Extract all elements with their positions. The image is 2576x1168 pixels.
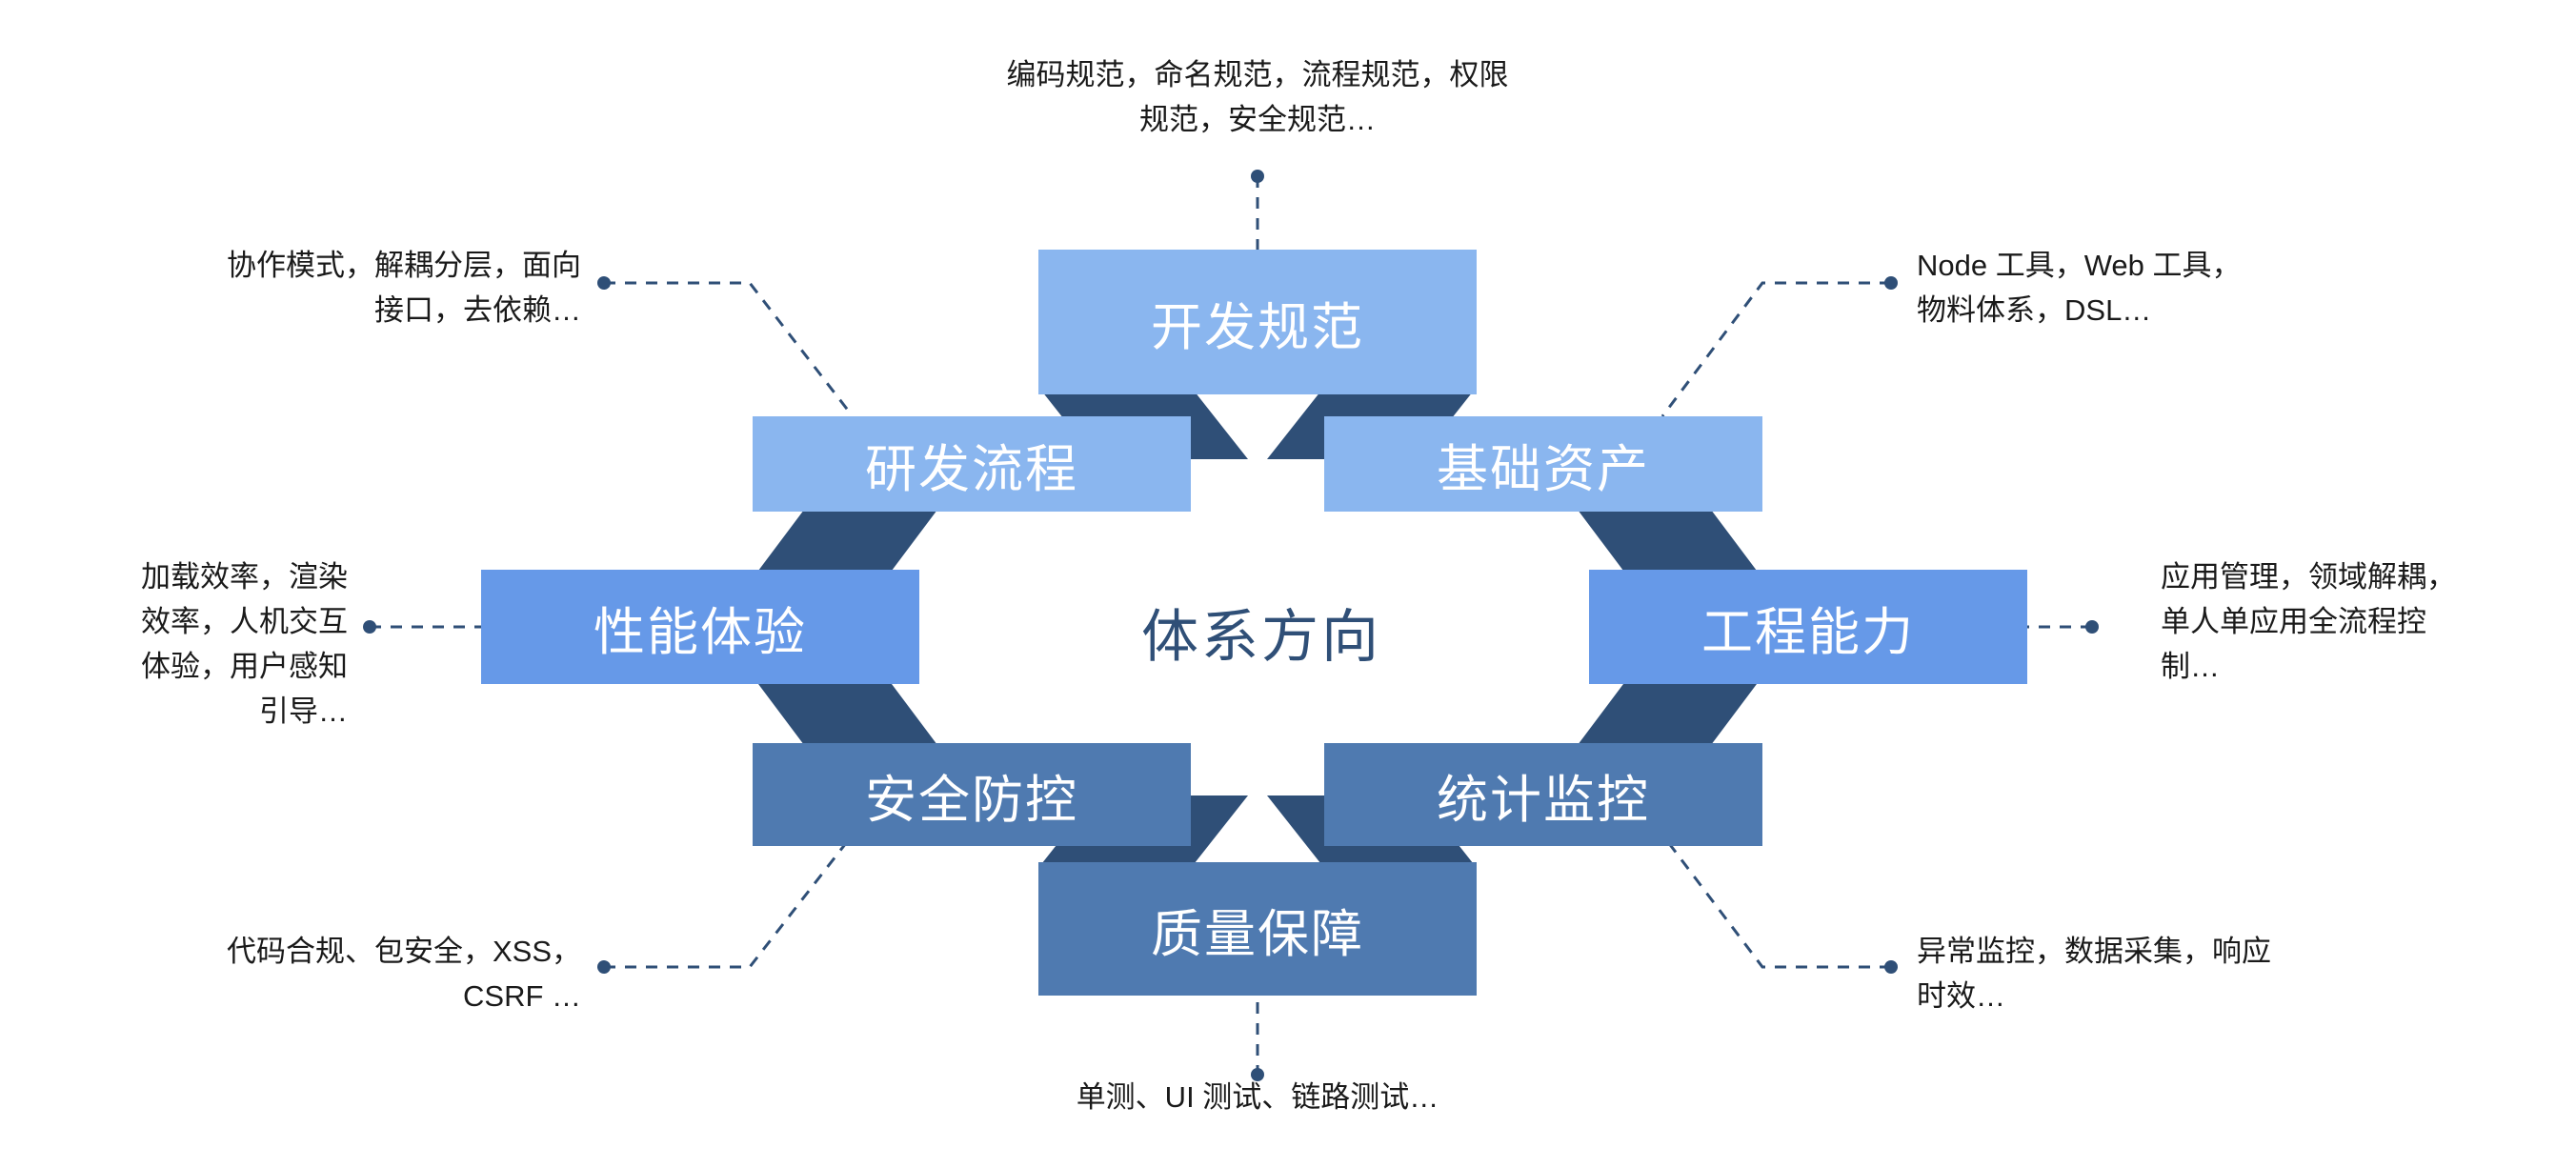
annotation-security: 代码合规、包安全，XSS， CSRF … xyxy=(76,929,581,1018)
block-base-assets[interactable]: 基础资产 xyxy=(1324,416,1762,512)
annotation-base-assets: Node 工具，Web 工具， 物料体系，DSL… xyxy=(1917,243,2450,332)
annotation-quality: 单测、UI 测试、链路测试… xyxy=(972,1075,1543,1119)
block-label: 研发流程 xyxy=(865,427,1078,502)
block-label: 性能体验 xyxy=(594,590,807,665)
block-label: 质量保障 xyxy=(1151,892,1364,967)
connector-quality xyxy=(1251,1002,1264,1081)
center-title: 体系方向 xyxy=(1141,591,1381,674)
annotation-performance: 加载效率，渲染 效率，人机交互 体验，用户感知 引导… xyxy=(38,554,348,734)
connector-monitoring xyxy=(1662,835,1898,974)
connector-engineering xyxy=(2020,620,2099,634)
fold-baseassets-engineering xyxy=(1572,502,1762,578)
connector-dev-spec xyxy=(1251,170,1264,250)
annotation-dev-spec: 编码规范，命名规范，流程规范，权限 规范，安全规范… xyxy=(915,52,1600,142)
block-security[interactable]: 安全防控 xyxy=(753,743,1191,846)
block-engineering[interactable]: 工程能力 xyxy=(1589,570,2027,684)
block-quality[interactable]: 质量保障 xyxy=(1038,862,1477,996)
block-label: 基础资产 xyxy=(1437,427,1650,502)
block-label: 安全防控 xyxy=(865,757,1078,833)
annotation-engineering: 应用管理，领域解耦， 单人单应用全流程控 制… xyxy=(2161,554,2542,689)
block-label: 统计监控 xyxy=(1437,757,1650,833)
block-label: 开发规范 xyxy=(1151,285,1364,360)
fold-engineering-monitoring xyxy=(1572,676,1762,753)
connector-rd-process xyxy=(597,276,853,416)
annotation-rd-process: 协作模式，解耦分层，面向 接口，去依赖… xyxy=(105,243,581,332)
annotation-monitoring: 异常监控，数据采集，响应 时效… xyxy=(1917,929,2450,1018)
block-label: 工程能力 xyxy=(1701,590,1915,665)
connector-base-assets xyxy=(1662,276,1898,416)
fold-performance-security xyxy=(753,676,943,753)
block-rd-process[interactable]: 研发流程 xyxy=(753,416,1191,512)
connector-performance xyxy=(363,620,481,634)
fold-rdprocess-performance xyxy=(753,502,943,578)
block-dev-spec[interactable]: 开发规范 xyxy=(1038,250,1477,394)
connector-security xyxy=(597,835,853,974)
block-monitoring[interactable]: 统计监控 xyxy=(1324,743,1762,846)
diagram-canvas: 开发规范 研发流程 基础资产 性能体验 工程能力 安全防控 统计监控 质量保障 … xyxy=(0,0,2576,1168)
block-performance[interactable]: 性能体验 xyxy=(481,570,919,684)
